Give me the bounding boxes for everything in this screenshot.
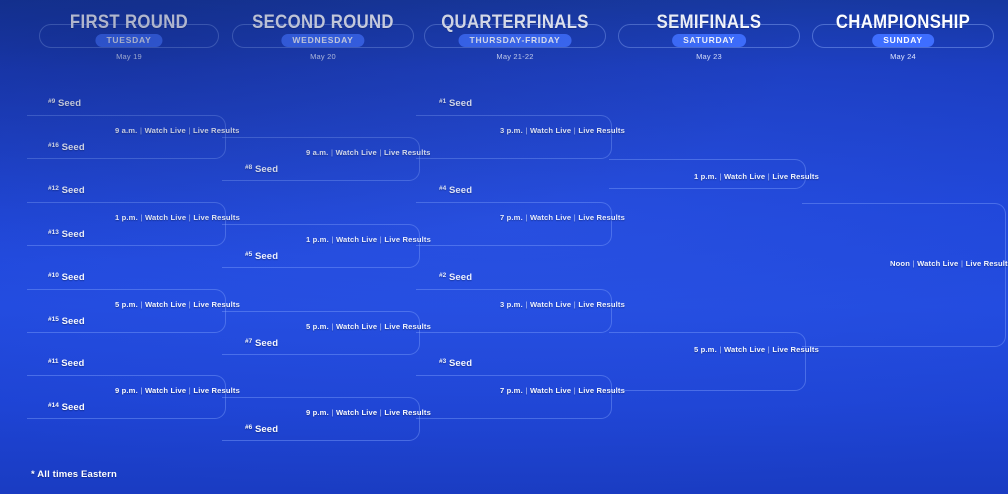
watch-live-link[interactable]: Watch Live: [530, 213, 571, 222]
game-info-qf-g2: 7 p.m.|Watch Live|Live Results: [500, 213, 625, 223]
round-header-day-pill: WEDNESDAY: [281, 34, 364, 47]
seed-label-r2-g3: #7 Seed: [245, 336, 278, 349]
bracket-connector-qf-g4: [416, 375, 612, 419]
seed-label-r1-g4-top: #11 Seed: [48, 356, 84, 369]
tournament-bracket: FIRST ROUND TUESDAY May 19 SECOND ROUND …: [0, 0, 1008, 494]
round-header-semifinals: SEMIFINALS SATURDAY May 23: [618, 12, 800, 64]
round-header-first-round: FIRST ROUND TUESDAY May 19: [39, 12, 219, 64]
watch-live-link[interactable]: Watch Live: [336, 148, 377, 157]
round-header-title: FIRST ROUND: [62, 12, 196, 33]
live-results-link[interactable]: Live Results: [578, 300, 625, 309]
round-header-date: May 23: [696, 52, 722, 62]
watch-live-link[interactable]: Watch Live: [145, 213, 186, 222]
watch-live-link[interactable]: Watch Live: [336, 322, 377, 331]
round-header-championship: CHAMPIONSHIP SUNDAY May 24: [812, 12, 994, 64]
seed-label-qf-g2: #4 Seed: [439, 183, 472, 196]
info-separator: |: [138, 386, 145, 395]
watch-live-link[interactable]: Watch Live: [336, 235, 377, 244]
live-results-link[interactable]: Live Results: [966, 259, 1008, 268]
watch-live-link[interactable]: Watch Live: [530, 300, 571, 309]
info-separator: |: [329, 235, 336, 244]
seed-label-r1-g4-bottom: #14 Seed: [48, 400, 85, 413]
watch-live-link[interactable]: Watch Live: [530, 386, 571, 395]
info-separator: |: [523, 126, 530, 135]
round-header-date: May 19: [116, 52, 142, 62]
game-info-sf-g1: 1 p.m.|Watch Live|Live Results: [694, 172, 819, 182]
watch-live-link[interactable]: Watch Live: [145, 300, 186, 309]
info-separator: |: [717, 172, 724, 181]
round-header-title: SEMIFINALS: [649, 12, 768, 33]
info-separator: |: [186, 126, 193, 135]
watch-live-link[interactable]: Watch Live: [917, 259, 958, 268]
watch-live-link[interactable]: Watch Live: [724, 345, 765, 354]
round-header-date: May 21-22: [496, 52, 533, 62]
game-info-qf-g4: 7 p.m.|Watch Live|Live Results: [500, 386, 625, 396]
round-header-date: May 24: [890, 52, 916, 62]
game-time: 9 a.m.: [115, 126, 137, 135]
game-time: 7 p.m.: [500, 213, 523, 222]
bracket-connector-qf-g2: [416, 202, 612, 246]
watch-live-link[interactable]: Watch Live: [145, 126, 186, 135]
game-info-r2-g1: 9 a.m.|Watch Live|Live Results: [306, 148, 431, 158]
game-time: 9 p.m.: [306, 408, 329, 417]
game-info-r1-g4: 9 p.m.|Watch Live|Live Results: [115, 386, 240, 396]
live-results-link[interactable]: Live Results: [578, 126, 625, 135]
game-time: 9 a.m.: [306, 148, 328, 157]
round-header-day-pill: SATURDAY: [672, 34, 746, 47]
round-header-day-pill: THURSDAY-FRIDAY: [459, 34, 572, 47]
info-separator: |: [138, 213, 145, 222]
live-results-link[interactable]: Live Results: [193, 213, 240, 222]
game-time: 5 p.m.: [115, 300, 138, 309]
info-separator: |: [523, 386, 530, 395]
game-info-r1-g1: 9 a.m.|Watch Live|Live Results: [115, 126, 240, 136]
bracket-connector-championship: [802, 203, 1006, 347]
info-separator: |: [137, 126, 144, 135]
live-results-link[interactable]: Live Results: [193, 126, 240, 135]
info-separator: |: [523, 213, 530, 222]
game-time: Noon: [890, 259, 910, 268]
game-info-r1-g3: 5 p.m.|Watch Live|Live Results: [115, 300, 240, 310]
info-separator: |: [329, 322, 336, 331]
round-header-quarterfinals: QUARTERFINALS THURSDAY-FRIDAY May 21-22: [424, 12, 606, 64]
round-header-day-pill: TUESDAY: [95, 34, 162, 47]
round-header-second-round: SECOND ROUND WEDNESDAY May 20: [232, 12, 414, 64]
info-separator: |: [377, 148, 384, 157]
game-info-r2-g3: 5 p.m.|Watch Live|Live Results: [306, 322, 431, 332]
seed-label-r1-g2-bottom: #13 Seed: [48, 227, 85, 240]
game-time: 3 p.m.: [500, 126, 523, 135]
game-info-r2-g2: 1 p.m.|Watch Live|Live Results: [306, 235, 431, 245]
info-separator: |: [328, 148, 335, 157]
round-header-date: May 20: [310, 52, 336, 62]
game-time: 5 p.m.: [306, 322, 329, 331]
watch-live-link[interactable]: Watch Live: [530, 126, 571, 135]
seed-label-qf-g4: #3 Seed: [439, 356, 472, 369]
seed-label-qf-g3: #2 Seed: [439, 270, 472, 283]
seed-label-r2-g2: #5 Seed: [245, 249, 278, 262]
game-info-qf-g1: 3 p.m.|Watch Live|Live Results: [500, 126, 625, 136]
info-separator: |: [523, 300, 530, 309]
live-results-link[interactable]: Live Results: [193, 300, 240, 309]
info-separator: |: [717, 345, 724, 354]
game-info-r2-g4: 9 p.m.|Watch Live|Live Results: [306, 408, 431, 418]
watch-live-link[interactable]: Watch Live: [336, 408, 377, 417]
watch-live-link[interactable]: Watch Live: [724, 172, 765, 181]
live-results-link[interactable]: Live Results: [772, 172, 819, 181]
round-header-title: SECOND ROUND: [242, 12, 403, 33]
game-info-r1-g2: 1 p.m.|Watch Live|Live Results: [115, 213, 240, 223]
seed-label-r1-g1-top: #9 Seed: [48, 96, 81, 109]
seed-label-qf-g1: #1 Seed: [439, 96, 472, 109]
info-separator: |: [329, 408, 336, 417]
seed-label-r2-g4: #6 Seed: [245, 422, 278, 435]
game-time: 9 p.m.: [115, 386, 138, 395]
round-header-title: CHAMPIONSHIP: [827, 12, 980, 33]
seed-label-r1-g1-bottom: #16 Seed: [48, 140, 85, 153]
seed-label-r1-g2-top: #12 Seed: [48, 183, 85, 196]
live-results-link[interactable]: Live Results: [193, 386, 240, 395]
all-times-eastern-note: * All times Eastern: [31, 469, 117, 481]
bracket-connector-sf-g2: [609, 332, 806, 391]
game-info-championship: Noon|Watch Live|Live Results: [890, 259, 1008, 269]
bracket-connector-qf-g1: [416, 115, 612, 159]
game-info-sf-g2: 5 p.m.|Watch Live|Live Results: [694, 345, 819, 355]
game-info-qf-g3: 3 p.m.|Watch Live|Live Results: [500, 300, 625, 310]
round-header-day-pill: SUNDAY: [872, 34, 934, 47]
seed-label-r1-g3-bottom: #15 Seed: [48, 314, 85, 327]
game-time: 3 p.m.: [500, 300, 523, 309]
info-separator: |: [138, 300, 145, 309]
seed-label-r1-g3-top: #10 Seed: [48, 270, 85, 283]
game-time: 5 p.m.: [694, 345, 717, 354]
game-time: 7 p.m.: [500, 386, 523, 395]
round-header-title: QUARTERFINALS: [431, 12, 599, 33]
seed-label-r2-g1: #8 Seed: [245, 162, 278, 175]
watch-live-link[interactable]: Watch Live: [145, 386, 186, 395]
game-time: 1 p.m.: [306, 235, 329, 244]
game-time: 1 p.m.: [694, 172, 717, 181]
live-results-link[interactable]: Live Results: [578, 213, 625, 222]
info-separator: |: [958, 259, 965, 268]
bracket-connector-qf-g3: [416, 289, 612, 333]
game-time: 1 p.m.: [115, 213, 138, 222]
